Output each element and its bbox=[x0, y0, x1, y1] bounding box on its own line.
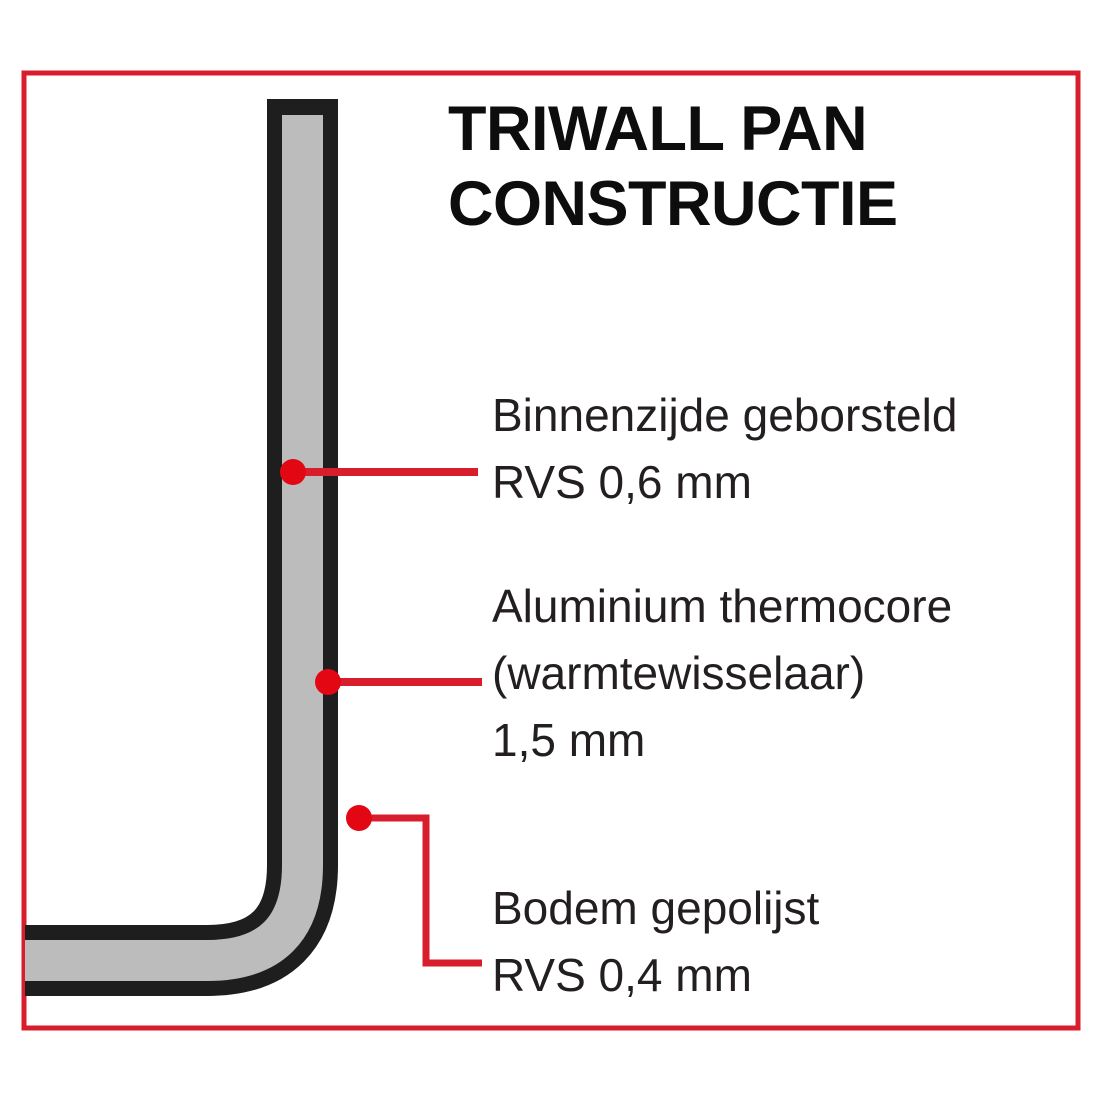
pan-wall-cross-section bbox=[0, 0, 1100, 1100]
leader-3-dot bbox=[346, 805, 372, 831]
leader-3-elbow-line bbox=[359, 818, 482, 963]
aluminium-thermocore-layer bbox=[25, 115, 303, 961]
leader-line-aluminium-core bbox=[315, 669, 482, 695]
leader-2-dot bbox=[315, 669, 341, 695]
leader-1-dot bbox=[280, 459, 306, 485]
figure-canvas: TRIWALL PAN CONSTRUCTIE Binnenzijde gebo… bbox=[0, 0, 1100, 1100]
steel-shell-outline bbox=[25, 99, 303, 961]
leader-line-outer-steel bbox=[346, 805, 482, 963]
